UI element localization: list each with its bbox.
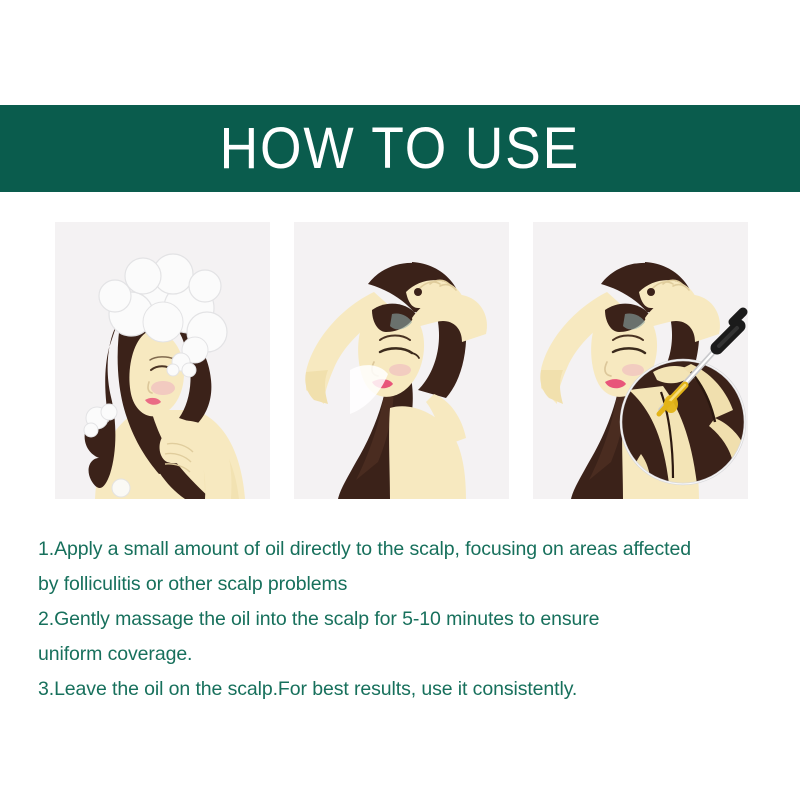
- step-image-massage: [294, 222, 509, 499]
- instruction-step-1: 1.Apply a small amount of oil directly t…: [38, 532, 783, 602]
- step-images-row: [55, 222, 748, 499]
- instruction-step-2: 2.Gently massage the oil into the scalp …: [38, 602, 783, 672]
- massage-scalp-illustration: [294, 222, 509, 499]
- apply-oil-illustration: [533, 222, 748, 499]
- instructions-list: 1.Apply a small amount of oil directly t…: [38, 532, 783, 707]
- step-image-wash: [55, 222, 270, 499]
- how-to-use-page: HOW TO USE: [0, 0, 800, 800]
- step-image-apply-oil: [533, 222, 748, 499]
- wash-hair-illustration: [55, 222, 270, 499]
- instruction-step-3: 3.Leave the oil on the scalp.For best re…: [38, 672, 783, 707]
- header-banner: HOW TO USE: [0, 105, 800, 192]
- page-title: HOW TO USE: [220, 120, 580, 178]
